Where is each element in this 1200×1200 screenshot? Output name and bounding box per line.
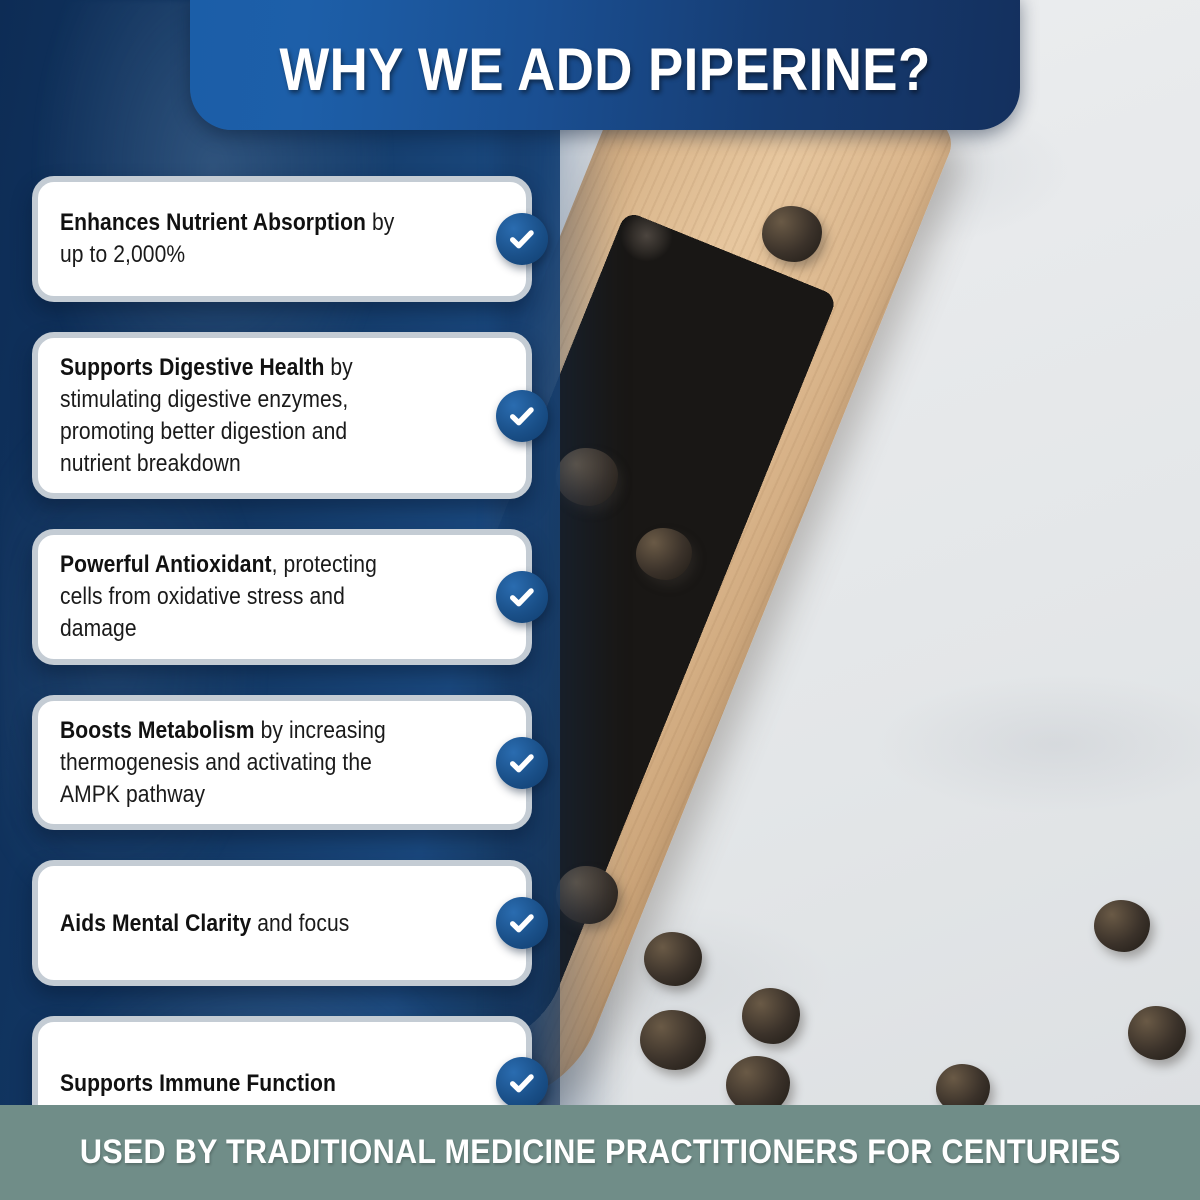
check-icon xyxy=(496,737,548,789)
benefit-headline: Enhances Nutrient Absorption xyxy=(60,209,366,236)
benefits-list: Enhances Nutrient Absorption by up to 2,… xyxy=(32,176,532,1180)
benefit-card: Boosts Metabolism by increasing thermoge… xyxy=(32,695,532,831)
loose-peppercorn xyxy=(1128,1006,1186,1060)
page-title: WHY WE ADD PIPERINE? xyxy=(279,21,930,104)
benefit-headline: Boosts Metabolism xyxy=(60,717,255,744)
check-icon xyxy=(496,390,548,442)
benefit-card: Powerful Antioxidant, protecting cells f… xyxy=(32,529,532,665)
check-icon xyxy=(496,897,548,949)
benefit-text: Supports Immune Function xyxy=(60,1068,401,1100)
check-icon xyxy=(496,1057,548,1109)
benefit-headline: Aids Mental Clarity xyxy=(60,910,251,937)
benefit-card: Aids Mental Clarity and focus xyxy=(32,860,532,986)
benefit-card: Supports Digestive Health by stimulating… xyxy=(32,332,532,499)
check-icon xyxy=(496,571,548,623)
benefit-detail: and focus xyxy=(251,910,349,937)
loose-peppercorn xyxy=(636,528,692,580)
loose-peppercorn xyxy=(640,1010,706,1070)
benefit-card: Enhances Nutrient Absorption by up to 2,… xyxy=(32,176,532,302)
loose-peppercorn xyxy=(742,988,800,1044)
check-icon xyxy=(496,213,548,265)
benefit-text: Aids Mental Clarity and focus xyxy=(60,908,401,940)
footer-text: USED BY TRADITIONAL MEDICINE PRACTITIONE… xyxy=(80,1133,1121,1172)
loose-peppercorn xyxy=(1094,900,1150,952)
benefit-headline: Powerful Antioxidant xyxy=(60,551,272,578)
header-banner: WHY WE ADD PIPERINE? xyxy=(190,0,1020,130)
benefit-text: Powerful Antioxidant, protecting cells f… xyxy=(60,549,401,645)
benefit-text: Supports Digestive Health by stimulating… xyxy=(60,352,401,479)
benefit-headline: Supports Digestive Health xyxy=(60,354,324,381)
poster: WHY WE ADD PIPERINE? Enhances Nutrient A… xyxy=(0,0,1200,1200)
benefit-headline: Supports Immune Function xyxy=(60,1070,336,1097)
loose-peppercorn xyxy=(762,206,822,262)
benefit-text: Enhances Nutrient Absorption by up to 2,… xyxy=(60,207,401,271)
footer-banner: USED BY TRADITIONAL MEDICINE PRACTITIONE… xyxy=(0,1105,1200,1200)
loose-peppercorn xyxy=(644,932,702,986)
benefit-text: Boosts Metabolism by increasing thermoge… xyxy=(60,715,401,811)
